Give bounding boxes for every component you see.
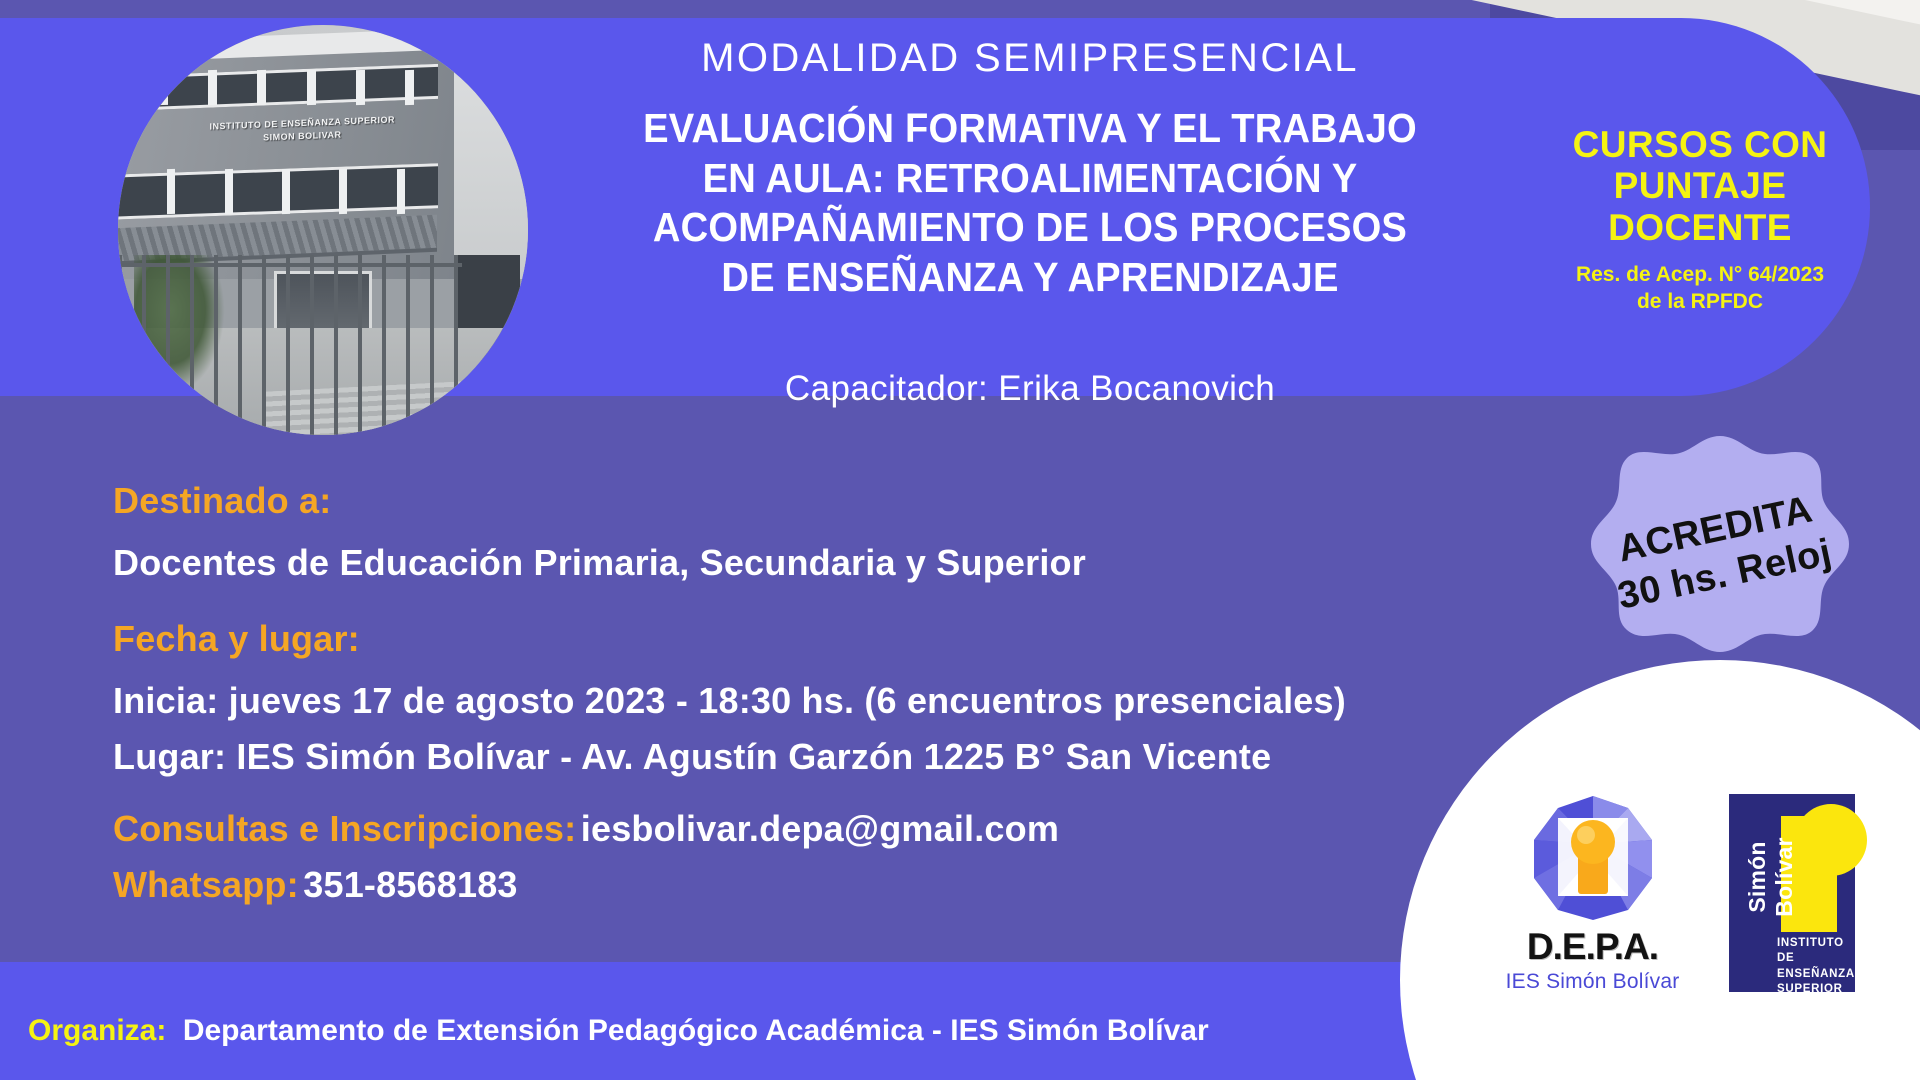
- title-line-3: ACOMPAÑAMIENTO DE LOS PROCESOS: [560, 203, 1499, 253]
- lugar-value: Lugar: IES Simón Bolívar - Av. Agustín G…: [113, 736, 1453, 778]
- whatsapp-value[interactable]: 351-8568183: [303, 864, 517, 905]
- sb-yellow-circle-icon: [1795, 804, 1867, 876]
- destinado-label: Destinado a:: [113, 480, 1453, 522]
- consultas-value[interactable]: iesbolivar.depa@gmail.com: [581, 808, 1059, 849]
- sb-institute-text: INSTITUTO DE ENSEÑANZA SUPERIOR: [1777, 936, 1851, 998]
- simon-bolivar-logo: Simón Bolívar INSTITUTO DE ENSEÑANZA SUP…: [1729, 794, 1855, 992]
- depa-logo-subtitle: IES Simón Bolívar: [1490, 970, 1695, 994]
- organiza-value: Departamento de Extensión Pedagógico Aca…: [183, 1014, 1209, 1047]
- sb-institute-line-3: SUPERIOR: [1777, 982, 1851, 997]
- fecha-label: Fecha y lugar:: [113, 618, 1453, 660]
- organiza-row: Organiza: Departamento de Extensión Peda…: [28, 1014, 1209, 1048]
- building-sign-line2: SIMON BOLIVAR: [263, 130, 341, 143]
- building-photo: INSTITUTO DE ENSEÑANZA SUPERIOR SIMON BO…: [118, 25, 528, 435]
- sb-institute-line-2: ENSEÑANZA: [1777, 967, 1851, 982]
- resolution-line-1: Res. de Acep. N° 64/2023: [1545, 262, 1855, 289]
- puntaje-badge: CURSOS CON PUNTAJE DOCENTE Res. de Acep.…: [1545, 124, 1855, 316]
- depa-logo: D.E.P.A. IES Simón Bolívar: [1490, 792, 1695, 994]
- page-title: EVALUACIÓN FORMATIVA Y EL TRABAJO EN AUL…: [560, 104, 1499, 302]
- whatsapp-label: Whatsapp:: [113, 864, 299, 905]
- title-line-2: EN AULA: RETROALIMENTACIÓN Y: [560, 154, 1499, 204]
- puntaje-line-1: CURSOS CON: [1545, 124, 1855, 165]
- puntaje-line-3: DOCENTE: [1545, 207, 1855, 248]
- depa-logo-name: D.E.P.A.: [1490, 928, 1695, 965]
- capacitador-text: Capacitador: Erika Bocanovich: [560, 369, 1500, 409]
- destinado-value: Docentes de Educación Primaria, Secundar…: [113, 542, 1453, 584]
- whatsapp-row: Whatsapp: 351-8568183: [113, 864, 1453, 906]
- consultas-row: Consultas e Inscripciones: iesbolivar.de…: [113, 808, 1453, 850]
- sb-institute-line-1: INSTITUTO DE: [1777, 936, 1851, 967]
- modalidad-subtitle: MODALIDAD SEMIPRESENCIAL: [560, 36, 1500, 81]
- consultas-label: Consultas e Inscripciones:: [113, 808, 576, 849]
- logo-group: D.E.P.A. IES Simón Bolívar Simón Bolívar…: [1490, 768, 1910, 1018]
- fecha-value: Inicia: jueves 17 de agosto 2023 - 18:30…: [113, 680, 1453, 722]
- details-block: Destinado a: Docentes de Educación Prima…: [113, 480, 1453, 906]
- title-line-1: EVALUACIÓN FORMATIVA Y EL TRABAJO: [560, 104, 1499, 154]
- puntaje-line-2: PUNTAJE: [1545, 165, 1855, 206]
- poster-canvas: INSTITUTO DE ENSEÑANZA SUPERIOR SIMON BO…: [0, 0, 1920, 1080]
- resolution-line-2: de la RPFDC: [1545, 289, 1855, 316]
- sb-vertical-name: Simón Bolívar: [1744, 802, 1798, 952]
- depa-gem-icon: [1528, 792, 1658, 922]
- organiza-label: Organiza:: [28, 1014, 166, 1047]
- acredita-badge: ACREDITA 30 hs. Reloj: [1570, 432, 1870, 672]
- title-line-4: DE ENSEÑANZA Y APRENDIZAJE: [560, 253, 1499, 303]
